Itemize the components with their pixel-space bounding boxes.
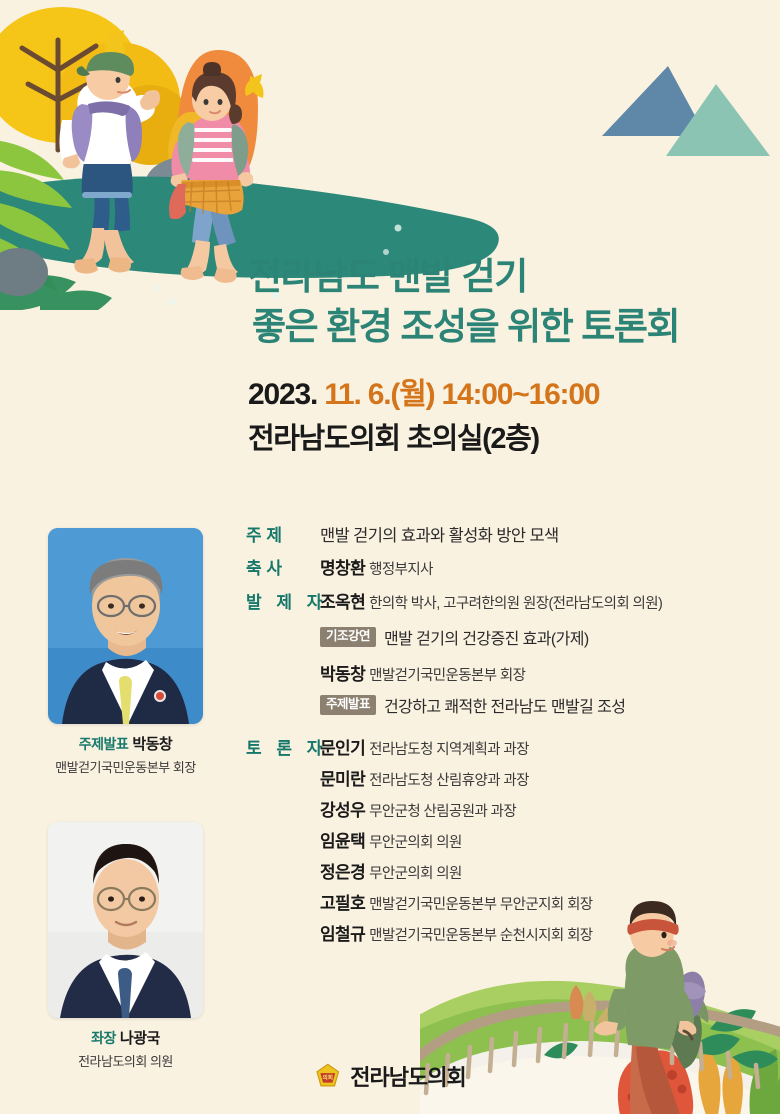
portrait-card-chair: 좌장나광국 전라남도의회 의원 bbox=[48, 822, 213, 1070]
presenter-topic: 맨발 걷기의 건강증진 효과(가제) bbox=[384, 625, 589, 649]
portrait-affiliation: 맨발걷기국민운동본부 회장 bbox=[38, 757, 213, 776]
title-block: 전라남도 맨발 걷기 좋은 환경 조성을 위한 토론회 2023. 11. 6.… bbox=[248, 252, 748, 458]
hiker-hill-illustration bbox=[420, 879, 780, 1114]
presenter-topic: 건강하고 쾌적한 전라남도 맨발길 조성 bbox=[384, 693, 625, 717]
program-row-subject: 주 제 맨발 걷기의 효과와 활성화 방안 모색 bbox=[246, 524, 766, 548]
portrait-name: 나광국 bbox=[120, 1030, 160, 1047]
poster-title-line-1: 전라남도 맨발 걷기 bbox=[248, 252, 748, 302]
portrait-card-speaker: 주제발표박동창 맨발걷기국민운동본부 회장 bbox=[48, 528, 213, 776]
discussant-name: 문인기 bbox=[320, 739, 365, 758]
program-row-presenter-2: 박동창 맨발걷기국민운동본부 회장 bbox=[320, 663, 766, 688]
badge-keynote: 기조강연 bbox=[320, 627, 376, 647]
mountains-icon bbox=[580, 28, 780, 168]
discussant-row: 문미란 전라남도청 산림휴양과 과장 bbox=[246, 768, 766, 793]
discussant-name: 임철규 bbox=[320, 925, 365, 944]
poster-root: 전라남도 맨발 걷기 좋은 환경 조성을 위한 토론회 2023. 11. 6.… bbox=[0, 0, 780, 1114]
label-presenters: 발 제 자 bbox=[246, 591, 320, 615]
portrait-role: 주제발표 bbox=[79, 736, 129, 752]
discussant-title: 전라남도청 산림휴양과 과장 bbox=[369, 773, 529, 789]
discussant-title: 무안군의회 의원 bbox=[369, 835, 462, 851]
discussant-title: 전라남도청 지역계획과 과장 bbox=[369, 742, 529, 758]
event-year: 2023. bbox=[248, 378, 317, 411]
discussant-row: 임윤택 무안군의회 의원 bbox=[246, 830, 766, 855]
label-discussants: 토 론 자 bbox=[246, 737, 320, 761]
portrait-caption-speaker: 주제발표박동창 맨발걷기국민운동본부 회장 bbox=[38, 733, 213, 776]
label-subject: 주 제 bbox=[246, 524, 320, 548]
presenter-title: 맨발걷기국민운동본부 회장 bbox=[369, 668, 525, 684]
discussant-name: 문미란 bbox=[320, 770, 365, 789]
program-row-congratulatory: 축 사 명창환 행정부지사 bbox=[246, 557, 766, 582]
discussant-title: 무안군청 산림공원과 과장 bbox=[369, 804, 516, 820]
portrait-affiliation: 전라남도의회 의원 bbox=[38, 1051, 213, 1070]
presenter-title: 한의학 박사, 고구려한의원 원장(전라남도의회 의원) bbox=[369, 596, 662, 612]
congrats-speaker-title: 행정부지사 bbox=[369, 562, 433, 578]
event-date-time: 11. 6.(월) 14:00~16:00 bbox=[324, 378, 599, 411]
discussant-row: 강성우 무안군청 산림공원과 과장 bbox=[246, 799, 766, 824]
portrait-role: 좌장 bbox=[91, 1030, 116, 1046]
program-row-presenter-1: 발 제 자 조옥현 한의학 박사, 고구려한의원 원장(전라남도의회 의원) bbox=[246, 591, 766, 616]
discussant-row: 토 론 자 문인기 전라남도청 지역계획과 과장 bbox=[246, 737, 766, 762]
badge-topic-presentation: 주제발표 bbox=[320, 695, 376, 715]
discussant-name: 임윤택 bbox=[320, 832, 365, 851]
congrats-speaker-name: 명창환 bbox=[320, 559, 365, 578]
discussant-name: 정은경 bbox=[320, 863, 365, 882]
portrait-caption-chair: 좌장나광국 전라남도의회 의원 bbox=[38, 1027, 213, 1070]
presenter-name: 박동창 bbox=[320, 665, 365, 684]
footer-logo: 의회 전라남도의회 bbox=[314, 1060, 465, 1092]
organization-name: 전라남도의회 bbox=[350, 1060, 465, 1092]
portrait-name: 박동창 bbox=[132, 736, 172, 753]
discussant-name: 고필호 bbox=[320, 894, 365, 913]
event-venue: 전라남도의회 초의실(2층) bbox=[248, 420, 748, 458]
discussant-name: 강성우 bbox=[320, 801, 365, 820]
presenter-name: 조옥현 bbox=[320, 593, 365, 612]
portrait-photo-park-dongchang bbox=[48, 528, 203, 724]
presenter-2-block: 박동창 맨발걷기국민운동본부 회장 주제발표 건강하고 쾌적한 전라남도 맨발길… bbox=[320, 663, 766, 717]
value-subject: 맨발 걷기의 효과와 활성화 방안 모색 bbox=[320, 524, 559, 548]
label-congratulatory: 축 사 bbox=[246, 557, 320, 581]
jeonnam-council-emblem-icon: 의회 bbox=[314, 1063, 341, 1090]
presenter-1-topic-row: 기조강연 맨발 걷기의 건강증진 효과(가제) bbox=[320, 625, 766, 649]
event-datetime: 2023. 11. 6.(월) 14:00~16:00 bbox=[248, 376, 748, 414]
portrait-photo-na-gwangguk bbox=[48, 822, 203, 1018]
poster-title-line-2: 좋은 환경 조성을 위한 토론회 bbox=[248, 302, 748, 352]
presenter-2-topic-row: 주제발표 건강하고 쾌적한 전라남도 맨발길 조성 bbox=[320, 693, 766, 717]
